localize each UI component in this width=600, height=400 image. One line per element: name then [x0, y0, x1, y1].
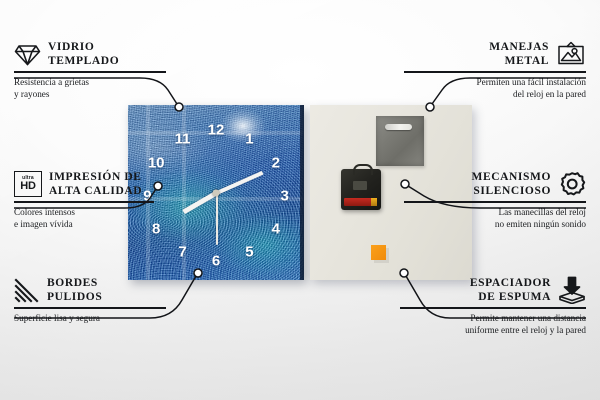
callout-title: Espaciador de Espuma: [470, 276, 551, 304]
mechanism-contact: [371, 198, 377, 206]
callout-desc: Permite mantener una distancia uniforme …: [400, 312, 586, 337]
callout-rule: [404, 71, 586, 73]
callout-title: Manejas Metal: [489, 40, 549, 68]
clock-numeral: 6: [212, 253, 220, 268]
callout-head: Bordes Pulidos: [14, 276, 190, 304]
callout-desc: Permiten una fácil instalación del reloj…: [404, 76, 586, 101]
arrow-onto-pad-icon: [558, 276, 586, 304]
clock-numeral: 2: [272, 155, 280, 170]
callout-head: Mecanismo Silencioso: [404, 170, 586, 198]
callout-title: Mecanismo Silencioso: [471, 170, 551, 198]
gear-icon: [558, 171, 586, 198]
clock-numeral: 7: [178, 245, 186, 260]
clock-second-hand: [216, 193, 218, 245]
infographic-canvas: 12 1 2 3 4 5 6 7 8 9 10 11: [0, 0, 600, 400]
glass-edge: [300, 105, 304, 280]
callout-head: ultra HD Impresión de Alta Calidad: [14, 170, 190, 198]
callout-desc: Las manecillas del reloj no emiten ningú…: [404, 206, 586, 231]
clock-numeral: 4: [272, 222, 280, 237]
callout-vidrio-templado: Vidrio Templado Resistencia a grietas y …: [14, 40, 182, 101]
clock-numeral: 10: [148, 155, 165, 170]
callout-desc: Resistencia a grietas y rayones: [14, 76, 182, 101]
callout-title: Impresión de Alta Calidad: [49, 170, 142, 198]
picture-frame-hanger-icon: [556, 41, 586, 67]
callout-bordes-pulidos: Bordes Pulidos Superficie lisa y segura: [14, 276, 190, 324]
clock-center-cap: [213, 190, 220, 197]
callout-title: Bordes Pulidos: [47, 276, 102, 304]
callout-desc: Superficie lisa y segura: [14, 312, 190, 325]
callout-head: Manejas Metal: [404, 40, 586, 68]
mechanism-shaft: [353, 181, 367, 190]
callout-rule: [14, 201, 154, 203]
ultra-hd-badge-icon: ultra HD: [14, 171, 42, 197]
clock-numeral: 12: [208, 122, 225, 137]
beveled-edge-icon: [14, 278, 40, 303]
callout-rule: [404, 201, 586, 203]
foam-spacer-square: [371, 245, 386, 260]
badge-hd-text: HD: [20, 181, 36, 192]
callout-head: Espaciador de Espuma: [400, 276, 586, 304]
clock-numeral: 1: [245, 132, 253, 147]
callout-title: Vidrio Templado: [48, 40, 119, 68]
callout-espaciador-espuma: Espaciador de Espuma Permite mantener un…: [400, 276, 586, 337]
quartz-mechanism-box: [341, 169, 381, 210]
callout-rule: [400, 307, 586, 309]
hanger-slot: [385, 124, 412, 130]
callout-head: Vidrio Templado: [14, 40, 182, 68]
clock-numeral: 5: [245, 245, 253, 260]
callout-rule: [14, 71, 166, 73]
battery-compartment: [344, 198, 372, 206]
mechanism-hanging-loop: [353, 164, 373, 175]
clock-numeral: 11: [175, 132, 191, 147]
callout-rule: [14, 307, 166, 309]
callout-impresion-alta-calidad: ultra HD Impresión de Alta Calidad Color…: [14, 170, 190, 231]
highlight-glow: [220, 109, 266, 143]
metal-hanger-plate: [376, 116, 424, 166]
callout-manejas-metal: Manejas Metal Permiten una fácil instala…: [404, 40, 586, 101]
callout-desc: Colores intensos e imagen vívida: [14, 206, 190, 231]
callout-mecanismo-silencioso: Mecanismo Silencioso Las manecillas del …: [404, 170, 586, 231]
clock-numeral: 3: [280, 189, 288, 204]
diamond-icon: [14, 42, 41, 67]
